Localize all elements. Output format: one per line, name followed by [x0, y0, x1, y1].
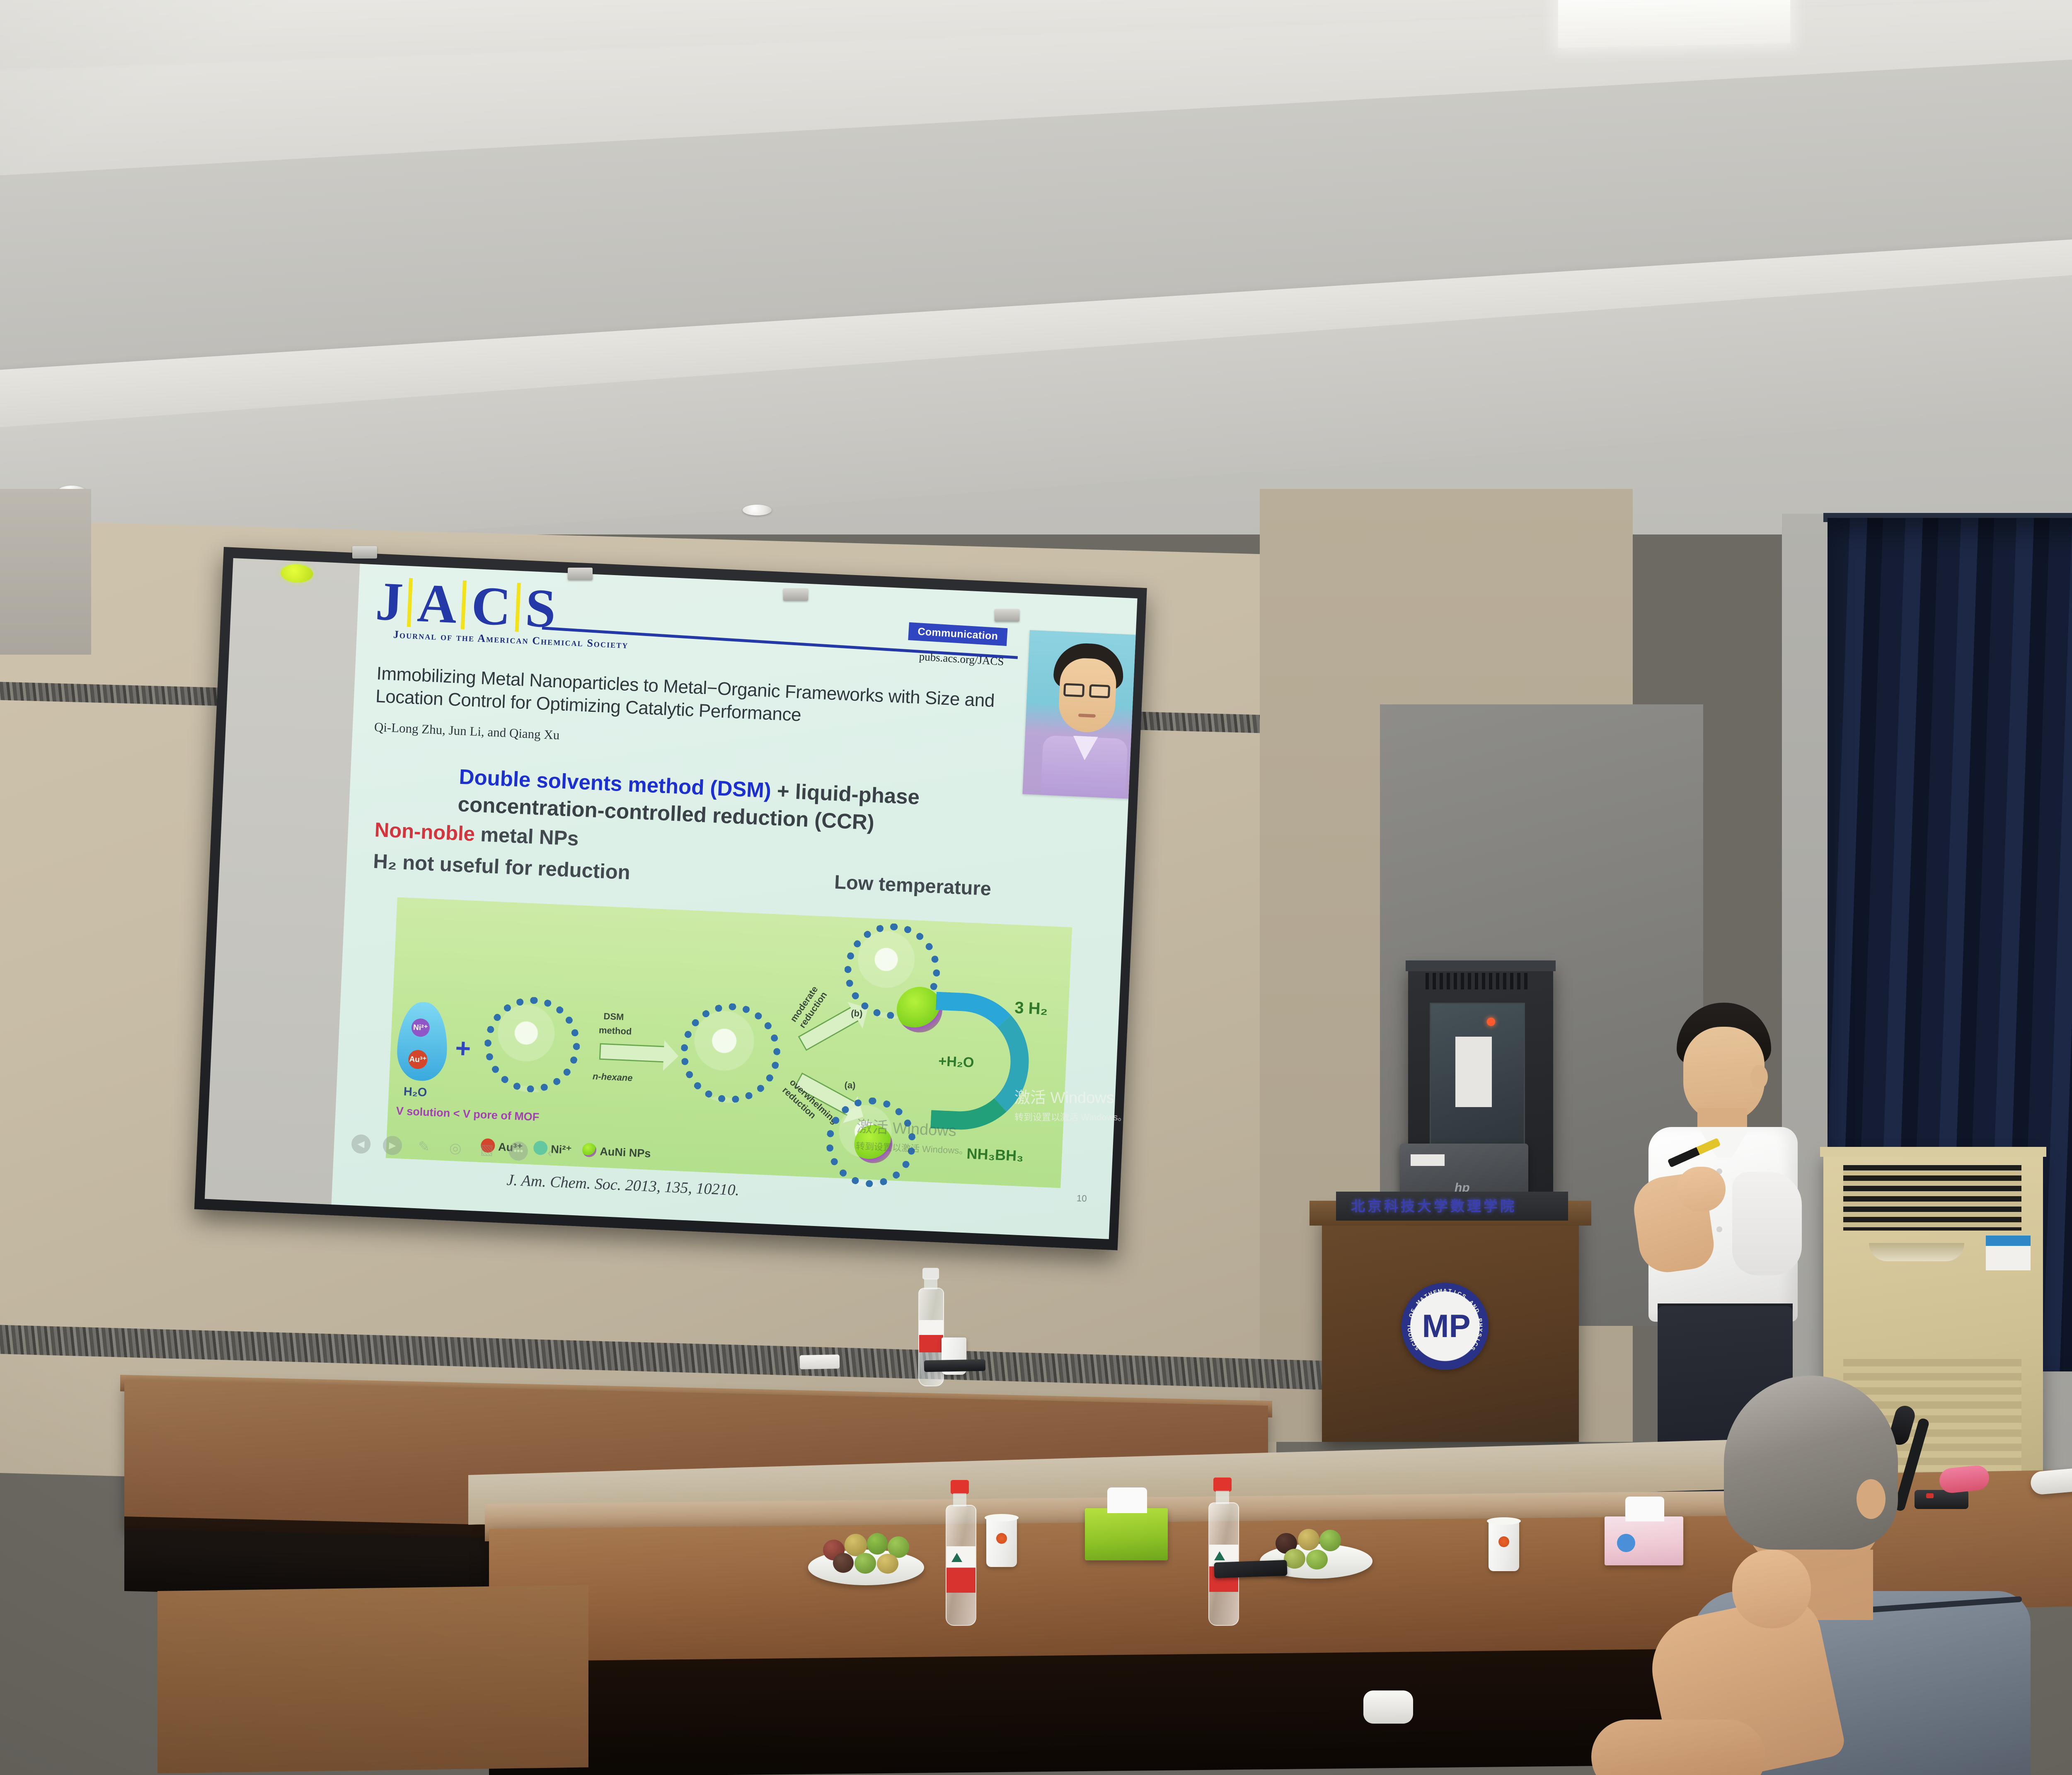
- nonnoble-rest-text: metal NPs: [474, 823, 579, 850]
- presenter-right-arm: [1732, 1172, 1802, 1275]
- jacs-divider-bar: [461, 580, 467, 629]
- fruit-green: [1306, 1550, 1328, 1569]
- label-dsm: DSM: [603, 1011, 624, 1023]
- more-options-icon[interactable]: •••: [508, 1141, 528, 1161]
- label-n-hexane: n-hexane: [592, 1071, 633, 1083]
- label-plus-h2o: +H₂O: [938, 1053, 975, 1071]
- cup-fruit-graphic: [996, 1533, 1007, 1544]
- air-conditioner-top: [1820, 1147, 2046, 1157]
- cup-fruit-graphic: [1498, 1536, 1509, 1547]
- watermark-line1: 激活 Windows: [856, 1113, 970, 1141]
- legend-dot-auni: [582, 1143, 597, 1157]
- slide-citation: J. Am. Chem. Soc. 2013, 135, 10210.: [506, 1171, 740, 1199]
- slide-side-note: Low temperature: [834, 870, 992, 900]
- mof-particle-loaded: [679, 1001, 782, 1105]
- label-volume-relation: V solution < V pore of MOF: [396, 1105, 540, 1124]
- emblem-ring-char: M: [1438, 1288, 1443, 1294]
- publisher-url: pubs.acs.org/JACS: [919, 650, 1005, 668]
- screen-clamp: [783, 588, 808, 601]
- label-branch-b: (b): [851, 1008, 863, 1019]
- tissue-box-green[interactable]: [1085, 1508, 1168, 1560]
- slide-number: 10: [1077, 1193, 1087, 1204]
- screen-clamp: [995, 609, 1019, 621]
- label-method: method: [598, 1025, 632, 1037]
- article-type-badge: Communication: [908, 622, 1007, 646]
- ceiling-light-panel: [1558, 0, 1790, 48]
- laptop-sticker: [1411, 1154, 1445, 1166]
- plus-symbol: +: [455, 1033, 472, 1064]
- screen-options-icon[interactable]: ▧: [477, 1140, 497, 1160]
- headshot-glasses-right: [1089, 684, 1110, 698]
- dsm-rest-text: + liquid-phase: [771, 779, 920, 809]
- lectern-institution-text: 北京科技大学数理学院: [1351, 1195, 1517, 1215]
- smartphone[interactable]: [1214, 1560, 1287, 1578]
- phone-back-table[interactable]: [924, 1359, 985, 1372]
- emblem-ring-char: E: [1433, 1289, 1438, 1296]
- windows-watermark-overflow: 激活 Windows 转到设置以激活 Windows。: [1014, 1085, 1151, 1123]
- audience-hand: [1732, 1550, 1811, 1628]
- rack-instruction-label: [1455, 1037, 1492, 1107]
- emblem-ring-char: O: [1406, 1328, 1413, 1332]
- windows-activation-watermark: 激活 Windows 转到设置以激活 Windows。: [856, 1113, 970, 1157]
- bottle-cap: [1213, 1478, 1232, 1492]
- bottle-cap: [951, 1480, 969, 1494]
- legend-item-auni: AuNi NPs: [582, 1143, 651, 1160]
- cup-rim: [1487, 1517, 1521, 1525]
- fruit-pear: [1298, 1529, 1319, 1550]
- fruit-green: [867, 1533, 888, 1555]
- author-headshot: [1022, 630, 1137, 800]
- emblem-ring-text: SCHOOL OF MATHEMATICS AND PHYSICS: [1402, 1283, 1489, 1370]
- label-3h2: 3 H₂: [1014, 999, 1048, 1019]
- slide-bullet-nonnoble: Non-noble metal NPs: [374, 818, 579, 851]
- emblem-ring-char: I: [1453, 1289, 1457, 1295]
- audience-member: [1608, 1376, 2055, 1775]
- rack-vent: [1426, 973, 1529, 989]
- h2o-label: H₂O: [403, 1085, 427, 1100]
- pen-tool-icon[interactable]: ✎: [414, 1137, 434, 1157]
- screen-clamp: [568, 568, 593, 580]
- fruit-pear: [877, 1554, 898, 1574]
- shirt-button: [1716, 1226, 1722, 1232]
- slide-bullet-h2: H₂ not useful for reduction: [373, 850, 631, 885]
- wall-far-left: [0, 489, 91, 655]
- emblem-ring-char: Y: [1477, 1328, 1484, 1332]
- left-table: [157, 1585, 588, 1773]
- emblem-ring-char: H: [1477, 1323, 1484, 1327]
- arrow-dsm: [599, 1043, 666, 1063]
- emblem-ring-char: P: [1477, 1318, 1484, 1322]
- presenter-hand: [1677, 1167, 1726, 1212]
- label-nh3bh3: NH₃BH₃: [966, 1145, 1024, 1165]
- headshot-glasses-left: [1063, 683, 1084, 697]
- audience-forearm: [1591, 1719, 1765, 1775]
- equipment-rack-top: [1406, 960, 1556, 971]
- water-droplet-icon: [396, 1001, 449, 1082]
- projection-screen: J A C S Journal of the American Chemical…: [194, 547, 1147, 1250]
- energy-label-sticker: [1986, 1236, 2031, 1270]
- emblem-ring-char: A: [1443, 1288, 1447, 1294]
- bottle-label: [919, 1320, 943, 1352]
- nonnoble-red-text: Non-noble: [374, 819, 475, 846]
- emblem-ring-char: T: [1448, 1288, 1452, 1294]
- screen-clamp: [352, 546, 377, 559]
- power-led-icon: [1487, 1018, 1495, 1026]
- audience-hair: [1724, 1376, 1898, 1550]
- nongfu-spring-logo-icon: [1214, 1551, 1225, 1560]
- laser-pointer-icon[interactable]: ◎: [445, 1138, 465, 1158]
- remote-control[interactable]: [800, 1354, 840, 1369]
- crumpled-tissue: [1363, 1690, 1413, 1724]
- slide-content: J A C S Journal of the American Chemical…: [332, 564, 1138, 1239]
- jacs-logo: J A C S: [375, 574, 557, 636]
- emblem-ring-char: I: [1475, 1338, 1481, 1342]
- emblem-ring-char: O: [1408, 1312, 1415, 1318]
- cup-rim: [985, 1514, 1019, 1521]
- jacs-letter-a: A: [416, 576, 457, 632]
- downlight-icon: [743, 505, 772, 515]
- fruit-green: [1319, 1530, 1341, 1551]
- presenter-ear: [1750, 1065, 1768, 1089]
- slide-authors: Qi-Long Zhu, Jun Li, and Qiang Xu: [374, 720, 560, 743]
- jacs-divider-bar: [515, 583, 520, 632]
- previous-slide-icon[interactable]: ◀: [351, 1134, 371, 1154]
- jacs-letter-j: J: [375, 574, 404, 630]
- lecture-hall-scene: J A C S Journal of the American Chemical…: [0, 0, 2072, 1775]
- watermark-overflow-line2: 转到设置以激活 Windows。: [1014, 1110, 1151, 1123]
- emblem-ring-char: S: [1476, 1332, 1483, 1337]
- jacs-divider-bar: [407, 578, 413, 627]
- legend-label-auni: AuNi NPs: [600, 1145, 651, 1160]
- fruit-date: [833, 1553, 854, 1573]
- air-conditioner-display: [1869, 1243, 1964, 1261]
- fruit-green: [854, 1553, 876, 1574]
- bottle-cap: [922, 1268, 939, 1279]
- air-conditioner-grille: [1843, 1165, 2021, 1231]
- next-slide-icon[interactable]: ▶: [382, 1136, 402, 1156]
- nongfu-spring-logo-icon: [951, 1553, 962, 1562]
- label-branch-a: (a): [844, 1080, 856, 1091]
- audience-ear: [1857, 1479, 1886, 1519]
- back-icon[interactable]: ‹: [540, 1142, 560, 1162]
- mof-particle-start: [482, 995, 582, 1094]
- jacs-letter-c: C: [470, 578, 511, 634]
- tissue-sheet: [1107, 1487, 1147, 1513]
- emblem-ring-char: L: [1406, 1323, 1412, 1327]
- watermark-overflow-line1: 激活 Windows: [1014, 1085, 1151, 1108]
